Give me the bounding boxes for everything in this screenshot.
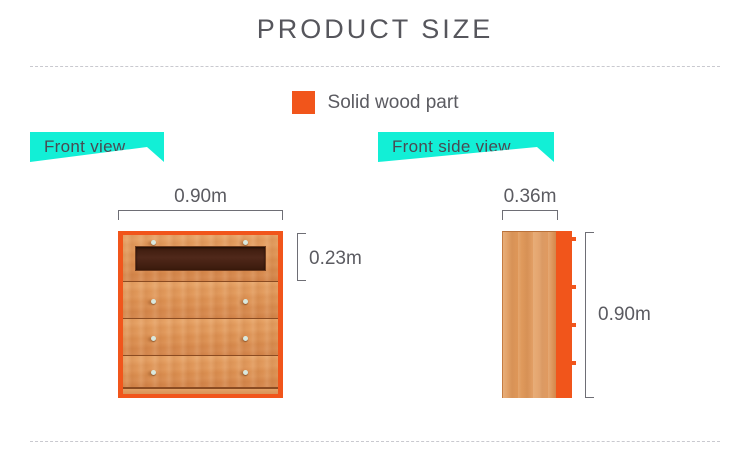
front-width-dimension-label: 0.90m: [118, 186, 283, 208]
drawer-knob: [151, 240, 156, 245]
side-edge-tick: [572, 285, 576, 289]
legend-label: Solid wood part: [328, 92, 459, 114]
front-view-dresser: [118, 231, 283, 398]
divider-bottom: [30, 441, 720, 442]
drawer-top: [123, 235, 278, 282]
banner-front-view-label: Front view: [44, 137, 125, 157]
side-edge-tick: [572, 323, 576, 327]
banner-front-view: Front view: [30, 132, 164, 162]
side-edge-tick: [572, 237, 576, 241]
base-plinth: [123, 388, 278, 394]
side-height-bracket: [585, 232, 594, 398]
banner-front-side-view-label: Front side view: [392, 137, 511, 157]
drawer-knob: [151, 336, 156, 341]
drawer-second: [123, 282, 278, 319]
side-width-dimension-label: 0.36m: [500, 186, 560, 208]
product-size-infographic: PRODUCT SIZE Solid wood part Front view …: [0, 0, 750, 462]
drawer-third: [123, 319, 278, 356]
drawer-knob: [243, 336, 248, 341]
drawer-bottom: [123, 356, 278, 388]
orange-square-icon: [292, 91, 315, 114]
drawer-knob: [151, 370, 156, 375]
side-wood-panel: [502, 231, 556, 398]
side-view-dresser: [502, 231, 572, 398]
front-width-bracket: [118, 210, 283, 220]
front-detail-height-bracket: [297, 233, 306, 281]
divider-top: [30, 66, 720, 67]
legend: Solid wood part: [0, 91, 750, 114]
drawer-knob: [151, 299, 156, 304]
side-height-dimension-label: 0.90m: [598, 304, 651, 326]
side-width-bracket: [502, 210, 558, 220]
front-view-dresser-body: [123, 235, 278, 394]
drawer-knob: [243, 299, 248, 304]
drawer-knob: [243, 370, 248, 375]
side-edge-tick: [572, 361, 576, 365]
banner-front-side-view: Front side view: [378, 132, 554, 162]
front-detail-height-label: 0.23m: [309, 248, 362, 270]
dark-inset-panel: [135, 246, 266, 271]
side-solid-wood-strip: [556, 231, 572, 398]
drawer-knob: [243, 240, 248, 245]
page-title: PRODUCT SIZE: [0, 14, 750, 45]
